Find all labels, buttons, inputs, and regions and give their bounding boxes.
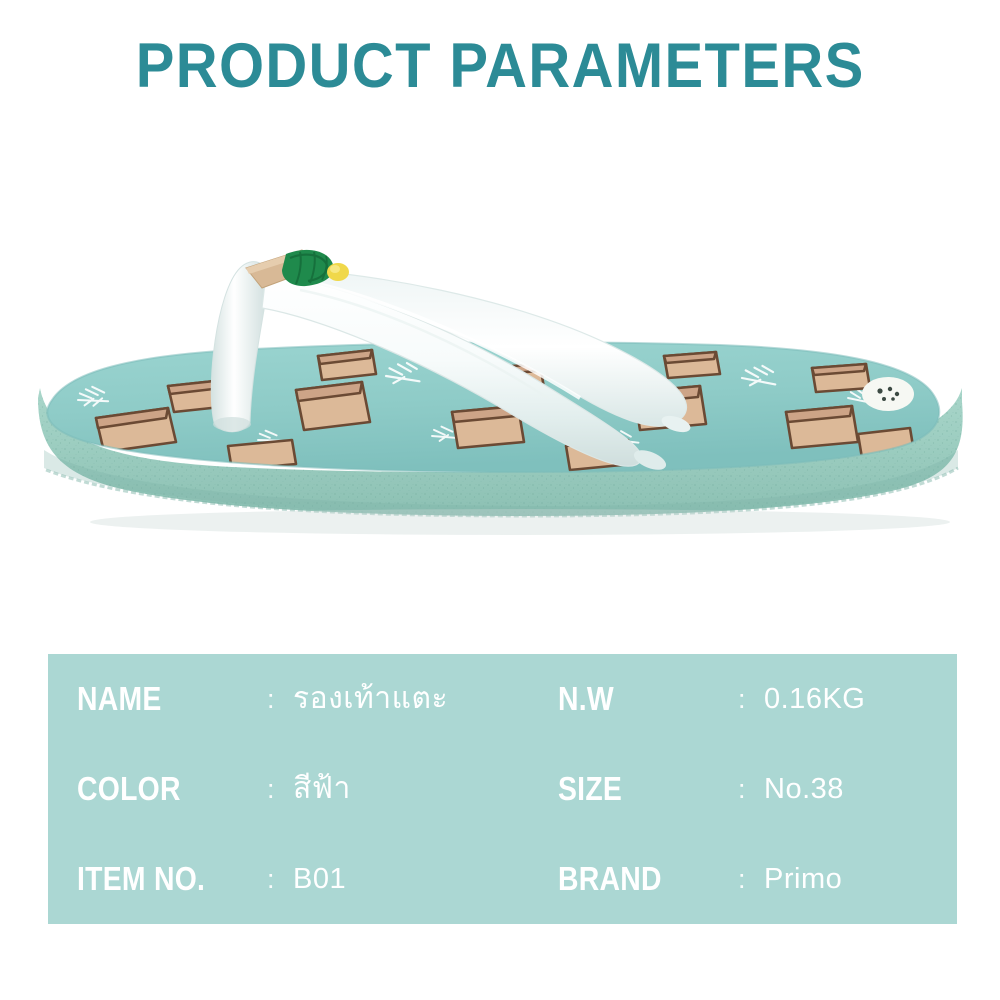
sandal-illustration	[0, 150, 1000, 620]
heel-logo-badge	[862, 377, 914, 411]
spec-value-color: สีฟ้า	[293, 772, 351, 806]
spec-label-color: COLOR	[77, 772, 240, 806]
spec-separator: :	[738, 864, 764, 894]
spec-separator: :	[267, 774, 293, 804]
spec-separator: :	[267, 684, 293, 714]
spec-label-brand: BRAND	[558, 862, 713, 896]
spec-value-size: No.38	[764, 772, 844, 806]
spec-separator: :	[267, 864, 293, 894]
spec-value-item-no: B01	[293, 862, 346, 896]
spec-value-nw: 0.16KG	[764, 682, 865, 716]
spec-value-name: รองเท้าแตะ	[293, 682, 448, 716]
spec-label-name: NAME	[77, 682, 240, 716]
spec-row-color: COLOR : สีฟ้า	[48, 744, 553, 834]
spec-row-name: NAME : รองเท้าแตะ	[48, 654, 553, 744]
spec-row-brand: BRAND : Primo	[553, 834, 957, 924]
spec-panel: NAME : รองเท้าแตะ N.W : 0.16KG COLOR : ส…	[48, 654, 957, 924]
spec-label-item-no: ITEM NO.	[77, 862, 240, 896]
spec-grid: NAME : รองเท้าแตะ N.W : 0.16KG COLOR : ส…	[48, 654, 957, 924]
product-photo	[0, 150, 1000, 620]
spec-row-nw: N.W : 0.16KG	[553, 654, 957, 744]
page-title-container: PRODUCT PARAMETERS	[0, 30, 1000, 102]
spec-separator: :	[738, 684, 764, 714]
spec-value-brand: Primo	[764, 862, 842, 896]
spec-row-item-no: ITEM NO. : B01	[48, 834, 553, 924]
spec-label-nw: N.W	[558, 682, 713, 716]
product-parameters-page: PRODUCT PARAMETERS	[0, 0, 1000, 1000]
spec-label-size: SIZE	[558, 772, 713, 806]
spec-separator: :	[738, 774, 764, 804]
sandal-ground-shadow	[90, 509, 950, 535]
spec-row-size: SIZE : No.38	[553, 744, 957, 834]
page-title: PRODUCT PARAMETERS	[136, 30, 865, 102]
